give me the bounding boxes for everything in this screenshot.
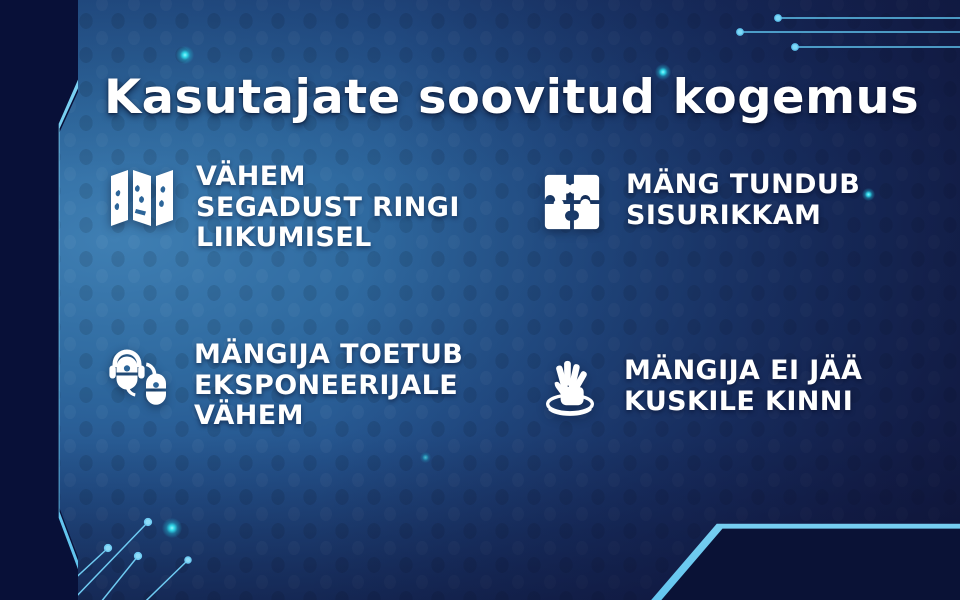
feature-label-line: KUSKILE KINNI — [624, 387, 862, 418]
feature-label-line: VÄHEM — [196, 162, 460, 193]
feature-label-line: LIIKUMISEL — [196, 223, 460, 254]
feature-item-player-never-gets-stuck: MÄNGIJA EI JÄÄ KUSKILE KINNI — [534, 352, 862, 424]
feature-item-game-feels-richer: MÄNG TUNDUB SISURIKKAM — [536, 166, 860, 238]
feature-label: MÄNGIJA EI JÄÄ KUSKILE KINNI — [624, 352, 862, 417]
feature-label: MÄNG TUNDUB SISURIKKAM — [626, 166, 860, 231]
feature-label-line: SISURIKKAM — [626, 201, 860, 232]
feature-item-less-reliance-on-presenter: MÄNGIJA TOETUB EKSPONEERIJALE VÄHEM — [104, 338, 463, 432]
feature-label-line: SEGADUST RINGI — [196, 193, 460, 224]
feature-label-line: VÄHEM — [194, 401, 463, 432]
headset-support-exchange-icon — [104, 338, 176, 410]
feature-label-line: MÄNG TUNDUB — [626, 170, 860, 201]
folded-map-icon — [106, 160, 178, 232]
feature-label-line: EKSPONEERIJALE — [194, 371, 463, 402]
slide-canvas: Kasutajate soovitud kogemus — [0, 0, 960, 600]
slide-title: Kasutajate soovitud kogemus — [104, 74, 919, 121]
feature-label-line: MÄNGIJA EI JÄÄ — [624, 356, 862, 387]
puzzle-pieces-icon — [536, 166, 608, 238]
feature-label-line: MÄNGIJA TOETUB — [194, 340, 463, 371]
hand-out-of-hole-icon — [534, 352, 606, 424]
feature-label: VÄHEM SEGADUST RINGI LIIKUMISEL — [196, 160, 460, 254]
feature-label: MÄNGIJA TOETUB EKSPONEERIJALE VÄHEM — [194, 338, 463, 432]
feature-item-less-confusion-navigating: VÄHEM SEGADUST RINGI LIIKUMISEL — [106, 160, 460, 254]
slide-content: Kasutajate soovitud kogemus — [0, 0, 960, 600]
